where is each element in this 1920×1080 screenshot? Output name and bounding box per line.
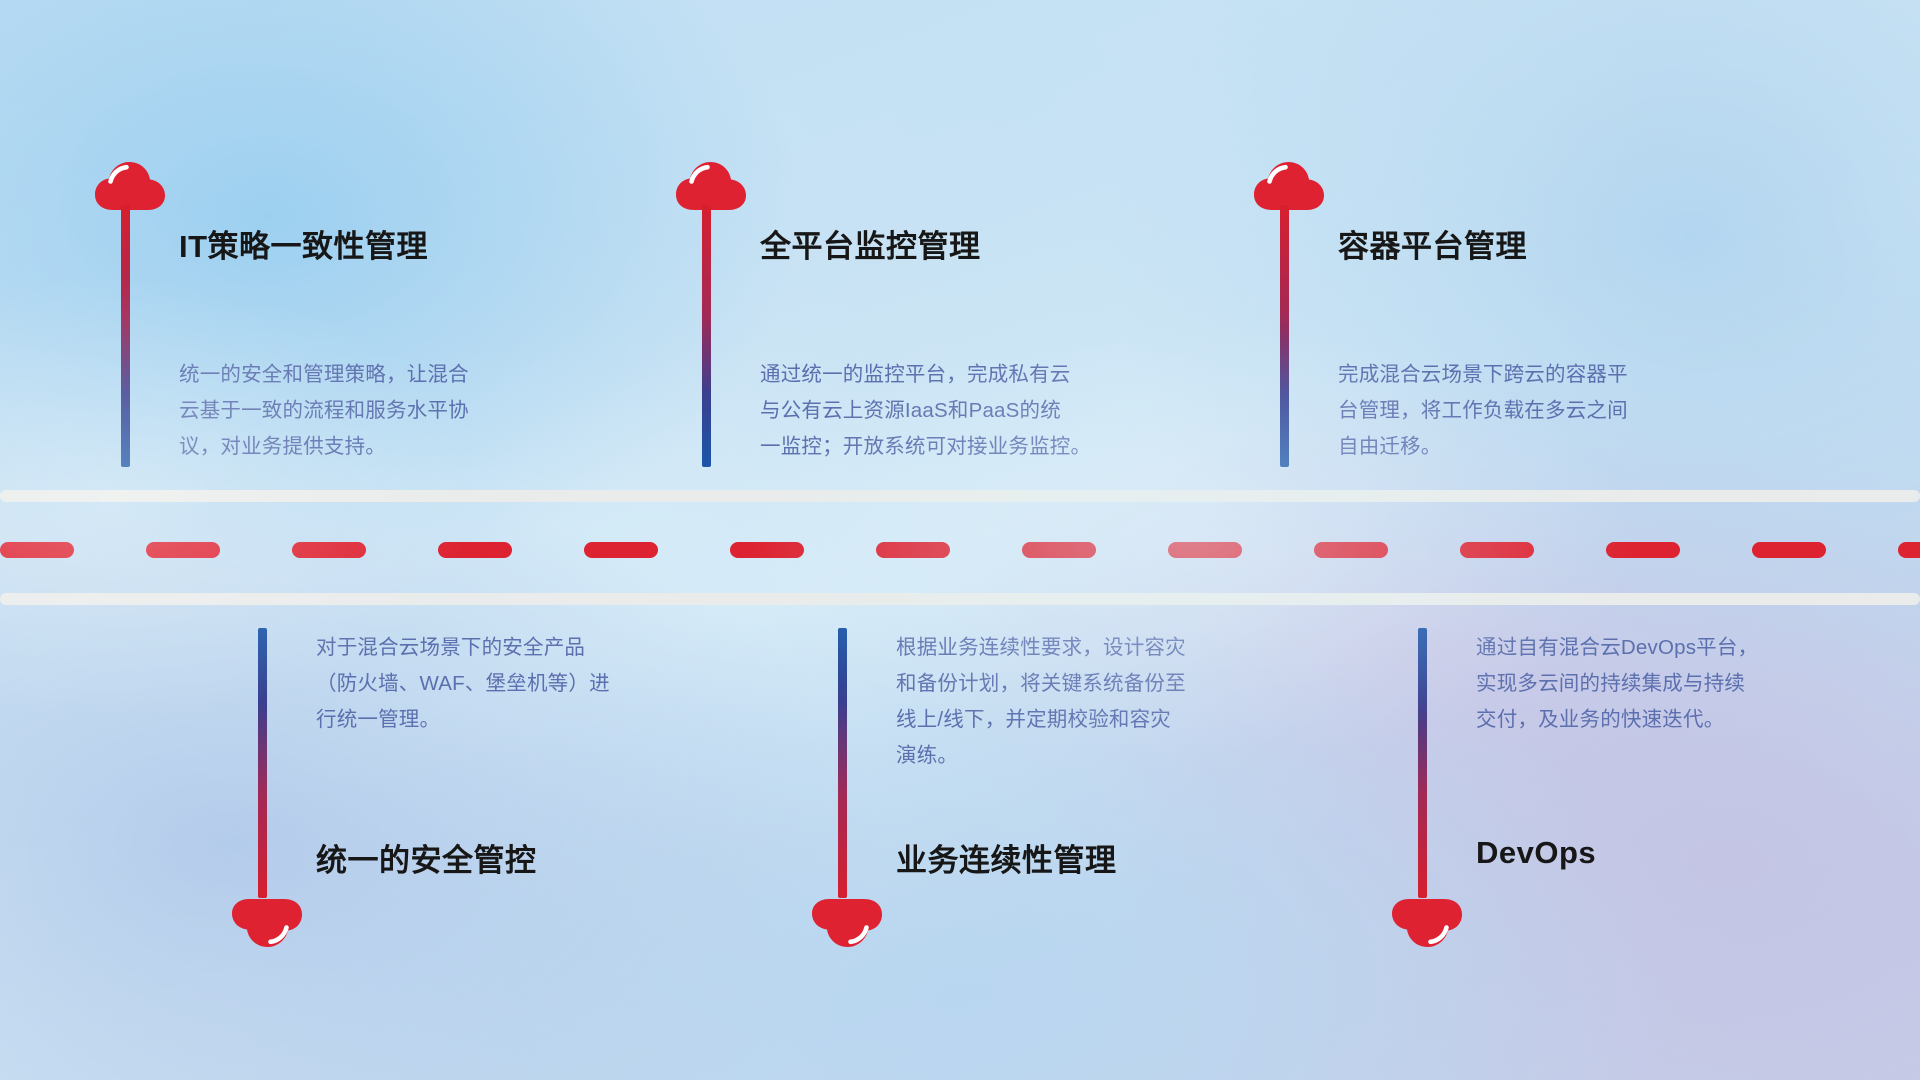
body-line: 云基于一致的流程和服务水平协	[179, 393, 609, 429]
road-dash	[0, 542, 74, 558]
cloud-icon	[810, 898, 884, 948]
body-line: 台管理，将工作负载在多云之间	[1338, 393, 1768, 429]
pin-connector	[1280, 205, 1289, 467]
body-line: 通过统一的监控平台，完成私有云	[760, 357, 1190, 393]
body-line: 与公有云上资源IaaS和PaaS的统	[760, 393, 1190, 429]
pin-connector	[1418, 628, 1427, 898]
road-dash	[1898, 542, 1920, 558]
pin-connector	[702, 205, 711, 467]
column-heading: 统一的安全管控	[316, 835, 537, 880]
column-body: 对于混合云场景下的安全产品 （防火墙、WAF、堡垒机等）进 行统一管理。	[316, 630, 746, 738]
column-body: 通过统一的监控平台，完成私有云 与公有云上资源IaaS和PaaS的统 一监控；开…	[760, 357, 1190, 465]
road-dash	[292, 542, 366, 558]
body-line: 行统一管理。	[316, 702, 746, 738]
column-body: 统一的安全和管理策略，让混合 云基于一致的流程和服务水平协 议，对业务提供支持。	[179, 357, 609, 465]
road-dash	[876, 542, 950, 558]
road-dash	[438, 542, 512, 558]
road-dash	[1460, 542, 1534, 558]
road-dash	[1752, 542, 1826, 558]
road-dash	[1022, 542, 1096, 558]
road-dash	[1168, 542, 1242, 558]
body-line: 通过自有混合云DevOps平台，	[1476, 630, 1906, 666]
infographic-canvas: IT策略一致性管理 统一的安全和管理策略，让混合 云基于一致的流程和服务水平协 …	[0, 0, 1920, 1080]
road-dash	[1606, 542, 1680, 558]
body-line: （防火墙、WAF、堡垒机等）进	[316, 666, 746, 702]
body-line: 统一的安全和管理策略，让混合	[179, 357, 609, 393]
road-dash	[1314, 542, 1388, 558]
pin-connector	[121, 205, 130, 467]
body-line: 议，对业务提供支持。	[179, 429, 609, 465]
pin-connector	[838, 628, 847, 898]
cloud-icon	[1252, 161, 1326, 211]
road-line-bottom	[0, 593, 1920, 605]
body-line: 交付，及业务的快速迭代。	[1476, 702, 1906, 738]
body-line: 自由迁移。	[1338, 429, 1768, 465]
cloud-icon	[230, 898, 304, 948]
road-dash	[146, 542, 220, 558]
column-heading: 全平台监控管理	[760, 221, 981, 266]
road-dash	[730, 542, 804, 558]
column-heading: DevOps	[1476, 835, 1596, 871]
column-body: 通过自有混合云DevOps平台， 实现多云间的持续集成与持续 交付，及业务的快速…	[1476, 630, 1906, 738]
body-line: 线上/线下，并定期校验和容灾	[896, 702, 1326, 738]
column-heading: 容器平台管理	[1338, 221, 1527, 266]
column-heading: 业务连续性管理	[896, 835, 1117, 880]
road-center-dashes	[0, 542, 1920, 558]
column-body: 完成混合云场景下跨云的容器平 台管理，将工作负载在多云之间 自由迁移。	[1338, 357, 1768, 465]
column-heading: IT策略一致性管理	[179, 221, 428, 266]
road-line-top	[0, 490, 1920, 502]
body-line: 演练。	[896, 738, 1326, 774]
cloud-icon	[93, 161, 167, 211]
body-line: 对于混合云场景下的安全产品	[316, 630, 746, 666]
column-body: 根据业务连续性要求，设计容灾 和备份计划，将关键系统备份至 线上/线下，并定期校…	[896, 630, 1326, 774]
cloud-icon	[1390, 898, 1464, 948]
pin-connector	[258, 628, 267, 898]
body-line: 完成混合云场景下跨云的容器平	[1338, 357, 1768, 393]
cloud-icon	[674, 161, 748, 211]
body-line: 一监控；开放系统可对接业务监控。	[760, 429, 1190, 465]
body-line: 根据业务连续性要求，设计容灾	[896, 630, 1326, 666]
road-dash	[584, 542, 658, 558]
body-line: 和备份计划，将关键系统备份至	[896, 666, 1326, 702]
body-line: 实现多云间的持续集成与持续	[1476, 666, 1906, 702]
